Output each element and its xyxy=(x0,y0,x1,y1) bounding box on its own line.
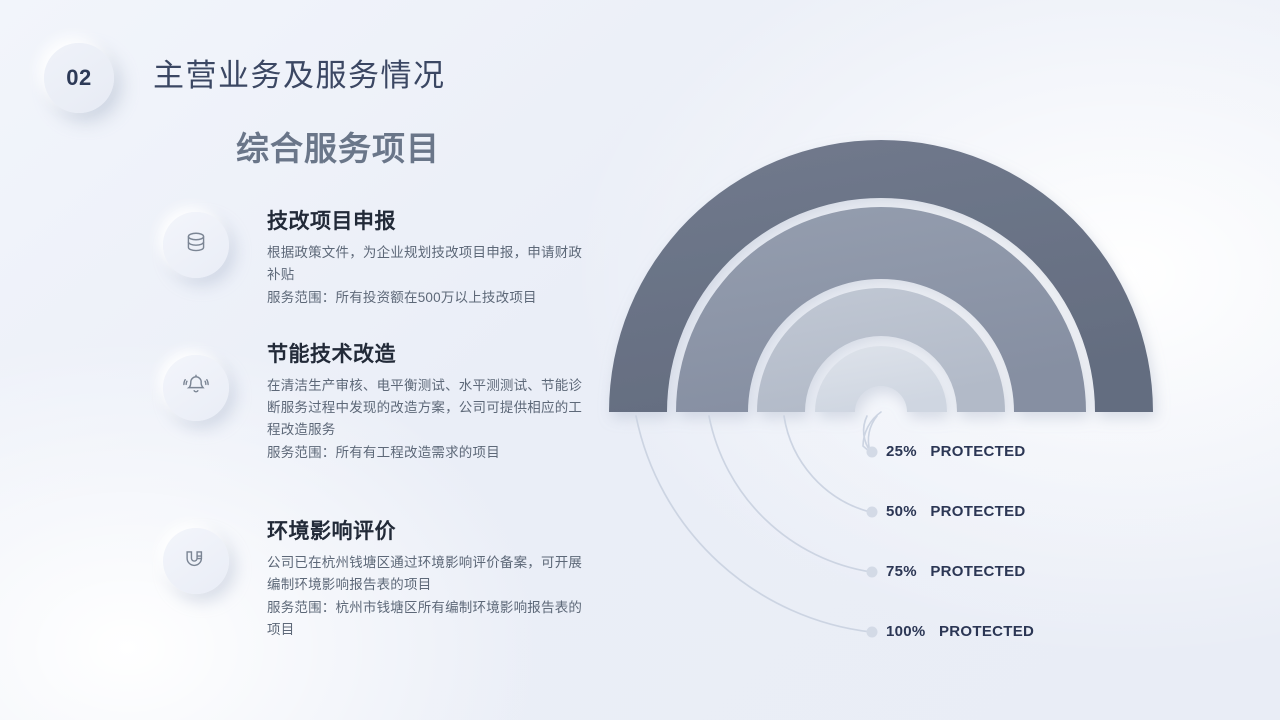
chart-label-100: 100% PROTECTED xyxy=(886,623,1034,640)
bell-icon xyxy=(183,373,209,404)
slide-canvas: 02 主营业务及服务情况 综合服务项目 技改项目申报 根据政策文件，为企业规划技… xyxy=(0,0,1280,720)
chart-label-100-value: 100% xyxy=(886,623,926,640)
feature-line: 根据政策文件，为企业规划技改项目申报，申请财政补贴 xyxy=(267,242,587,286)
feature-heading: 节能技术改造 xyxy=(267,338,587,368)
feature-text: 节能技术改造 在清洁生产审核、电平衡测试、水平测测试、节能诊断服务过程中发现的改… xyxy=(267,338,587,463)
chart-label-50: 50% PROTECTED xyxy=(886,503,1026,520)
chart-label-25-text: PROTECTED xyxy=(930,443,1025,460)
chart-label-25-value: 25% xyxy=(886,443,917,460)
concentric-arc-chart: 25% PROTECTED 50% PROTECTED 75% PROTECTE… xyxy=(560,120,1260,680)
connector-dot-50 xyxy=(867,507,878,518)
chart-label-75-value: 75% xyxy=(886,563,917,580)
feature-text: 环境影响评价 公司已在杭州钱塘区通过环境影响评价备案，可开展编制环境影响报告表的… xyxy=(267,515,587,640)
arc-rings xyxy=(609,140,1153,412)
feature-line: 服务范围：所有投资额在500万以上技改项目 xyxy=(267,287,587,309)
arc-chart-svg xyxy=(560,120,1260,680)
connector-50 xyxy=(784,416,870,512)
feature-line: 服务范围：所有有工程改造需求的项目 xyxy=(267,442,587,464)
chart-label-75-text: PROTECTED xyxy=(930,563,1025,580)
chart-label-25: 25% PROTECTED xyxy=(886,443,1026,460)
page-title: 主营业务及服务情况 xyxy=(153,50,446,95)
database-icon xyxy=(183,230,209,261)
connector-dots xyxy=(867,447,878,638)
feature-text: 技改项目申报 根据政策文件，为企业规划技改项目申报，申请财政补贴 服务范围：所有… xyxy=(267,205,587,309)
feature-icon-circle xyxy=(163,528,229,594)
feature-icon-circle xyxy=(163,355,229,421)
feature-line: 在清洁生产审核、电平衡测试、水平测测试、节能诊断服务过程中发现的改造方案，公司可… xyxy=(267,375,587,441)
feature-line: 服务范围：杭州市钱塘区所有编制环境影响报告表的项目 xyxy=(267,597,587,641)
chart-label-50-text: PROTECTED xyxy=(930,503,1025,520)
feature-heading: 技改项目申报 xyxy=(267,205,587,235)
magnet-icon xyxy=(183,546,209,577)
connector-100 xyxy=(636,416,871,632)
chart-label-100-text: PROTECTED xyxy=(939,623,1034,640)
feature-heading: 环境影响评价 xyxy=(267,515,587,545)
feature-line: 公司已在杭州钱塘区通过环境影响评价备案，可开展编制环境影响报告表的项目 xyxy=(267,552,587,596)
connector-dot-100 xyxy=(867,627,878,638)
leader-line-25b xyxy=(868,416,877,451)
chart-label-50-value: 50% xyxy=(886,503,917,520)
section-number-badge: 02 xyxy=(44,43,114,113)
section-number: 02 xyxy=(66,65,91,91)
connector-curves xyxy=(636,416,871,632)
feature-icon-circle xyxy=(163,212,229,278)
connector-dot-75 xyxy=(867,567,878,578)
section-title: 综合服务项目 xyxy=(236,122,440,170)
arc-ring-25 xyxy=(815,346,947,412)
chart-label-75: 75% PROTECTED xyxy=(886,563,1026,580)
connector-dot-25 xyxy=(867,447,878,458)
